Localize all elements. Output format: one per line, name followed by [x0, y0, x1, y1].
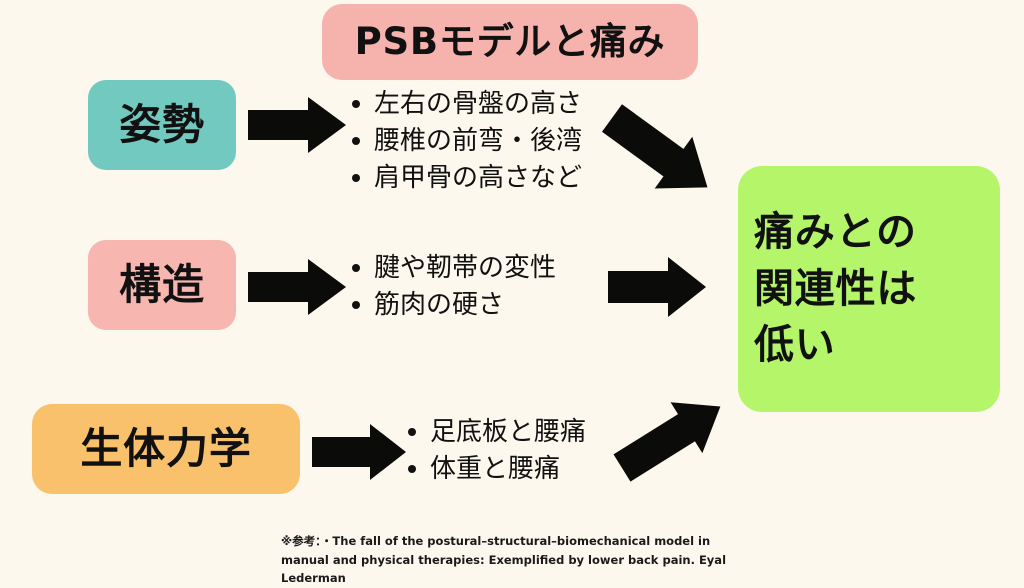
list-item: 腰椎の前弯・後湾	[348, 123, 582, 160]
category-box-structure: 構造	[88, 240, 236, 330]
arrow-shaft	[312, 437, 372, 467]
slide-canvas: PSBモデルと痛み 姿勢 左右の骨盤の高さ 腰椎の前弯・後湾 肩甲骨の高さなど …	[0, 0, 1024, 576]
arrow-head	[370, 424, 406, 480]
arrow-head	[308, 259, 346, 315]
result-line-1: 痛みとの	[754, 209, 917, 255]
category-label-posture: 姿勢	[119, 100, 205, 150]
bullet-list-posture: 左右の骨盤の高さ 腰椎の前弯・後湾 肩甲骨の高さなど	[348, 86, 582, 197]
result-box: 痛みとの 関連性は 低い	[738, 166, 1000, 412]
result-text: 痛みとの 関連性は 低い	[754, 204, 984, 374]
result-line-2: 関連性は	[754, 266, 917, 312]
arrow-head	[668, 257, 706, 317]
list-item: 筋肉の硬さ	[348, 287, 556, 324]
bullet-list-biomechanics: 足底板と腰痛 体重と腰痛	[404, 414, 586, 488]
slide-title-text: PSBモデルと痛み	[355, 20, 666, 64]
list-item: 肩甲骨の高さなど	[348, 160, 582, 197]
arrow-shaft	[248, 110, 310, 140]
category-label-biomechanics: 生体力学	[80, 424, 251, 474]
slide-title: PSBモデルと痛み	[322, 4, 698, 80]
list-item: 左右の骨盤の高さ	[348, 86, 582, 123]
bullet-list-structure: 腱や靭帯の変性 筋肉の硬さ	[348, 250, 556, 324]
list-item: 体重と腰痛	[404, 451, 586, 488]
footnote-reference: ※参考：・The fall of the postural–structural…	[281, 532, 751, 588]
arrow-head	[308, 97, 346, 153]
list-item: 足底板と腰痛	[404, 414, 586, 451]
category-box-biomechanics: 生体力学	[32, 404, 300, 494]
category-label-structure: 構造	[119, 260, 205, 310]
arrow-shaft	[608, 271, 670, 303]
result-line-3: 低い	[754, 322, 836, 368]
category-box-posture: 姿勢	[88, 80, 236, 170]
arrow-shaft	[248, 272, 310, 302]
list-item: 腱や靭帯の変性	[348, 250, 556, 287]
